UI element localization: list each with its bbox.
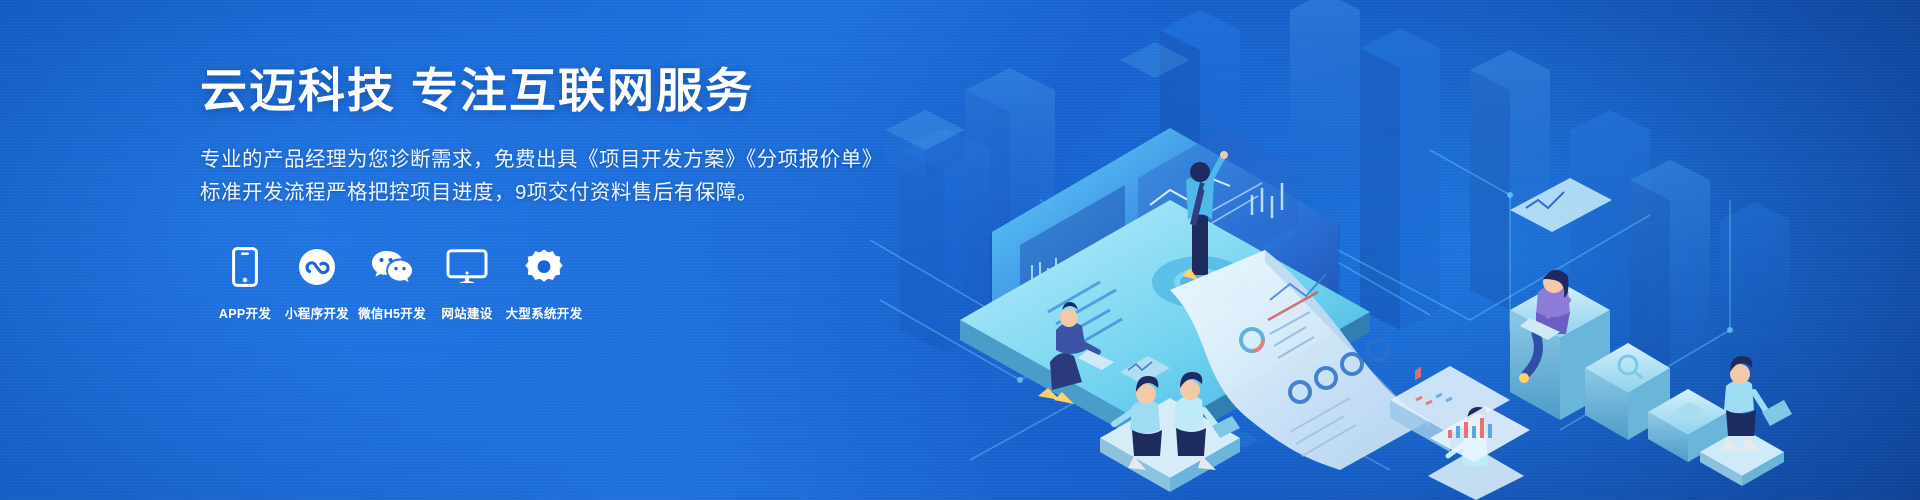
gear-icon [504, 245, 584, 289]
service-label-system: 大型系统开发 [504, 303, 584, 322]
monitor-icon [430, 245, 504, 289]
service-label-wechat: 微信H5开发 [354, 303, 430, 322]
service-icon-row: APP开发 小程序开发 [210, 245, 960, 322]
service-item-website[interactable]: 网站建设 [430, 245, 504, 322]
hero-banner: 云迈科技 专注互联网服务 专业的产品经理为您诊断需求，免费出具《项目开发方案》《… [0, 0, 1920, 500]
subtitle-block: 专业的产品经理为您诊断需求，免费出具《项目开发方案》《分项报价单》 标准开发流程… [200, 143, 960, 209]
service-item-system[interactable]: 大型系统开发 [504, 245, 584, 322]
service-label-app: APP开发 [210, 303, 280, 322]
subtitle-line-2: 标准开发流程严格把控项目进度，9项交付资料售后有保障。 [200, 176, 960, 209]
mobile-phone-icon [210, 245, 280, 289]
service-label-miniprogram: 小程序开发 [280, 303, 354, 322]
mini-program-icon [280, 245, 354, 289]
service-item-wechat[interactable]: 微信H5开发 [354, 245, 430, 322]
page-title: 云迈科技 专注互联网服务 [200, 62, 960, 121]
subtitle-line-1: 专业的产品经理为您诊断需求，免费出具《项目开发方案》《分项报价单》 [200, 143, 960, 176]
banner-content: 云迈科技 专注互联网服务 专业的产品经理为您诊断需求，免费出具《项目开发方案》《… [200, 62, 960, 322]
service-item-app[interactable]: APP开发 [210, 245, 280, 322]
wechat-icon [354, 245, 430, 289]
illustration-container [870, 0, 1920, 500]
service-item-miniprogram[interactable]: 小程序开发 [280, 245, 354, 322]
isometric-illustration [870, 0, 1920, 500]
service-label-website: 网站建设 [430, 303, 504, 322]
